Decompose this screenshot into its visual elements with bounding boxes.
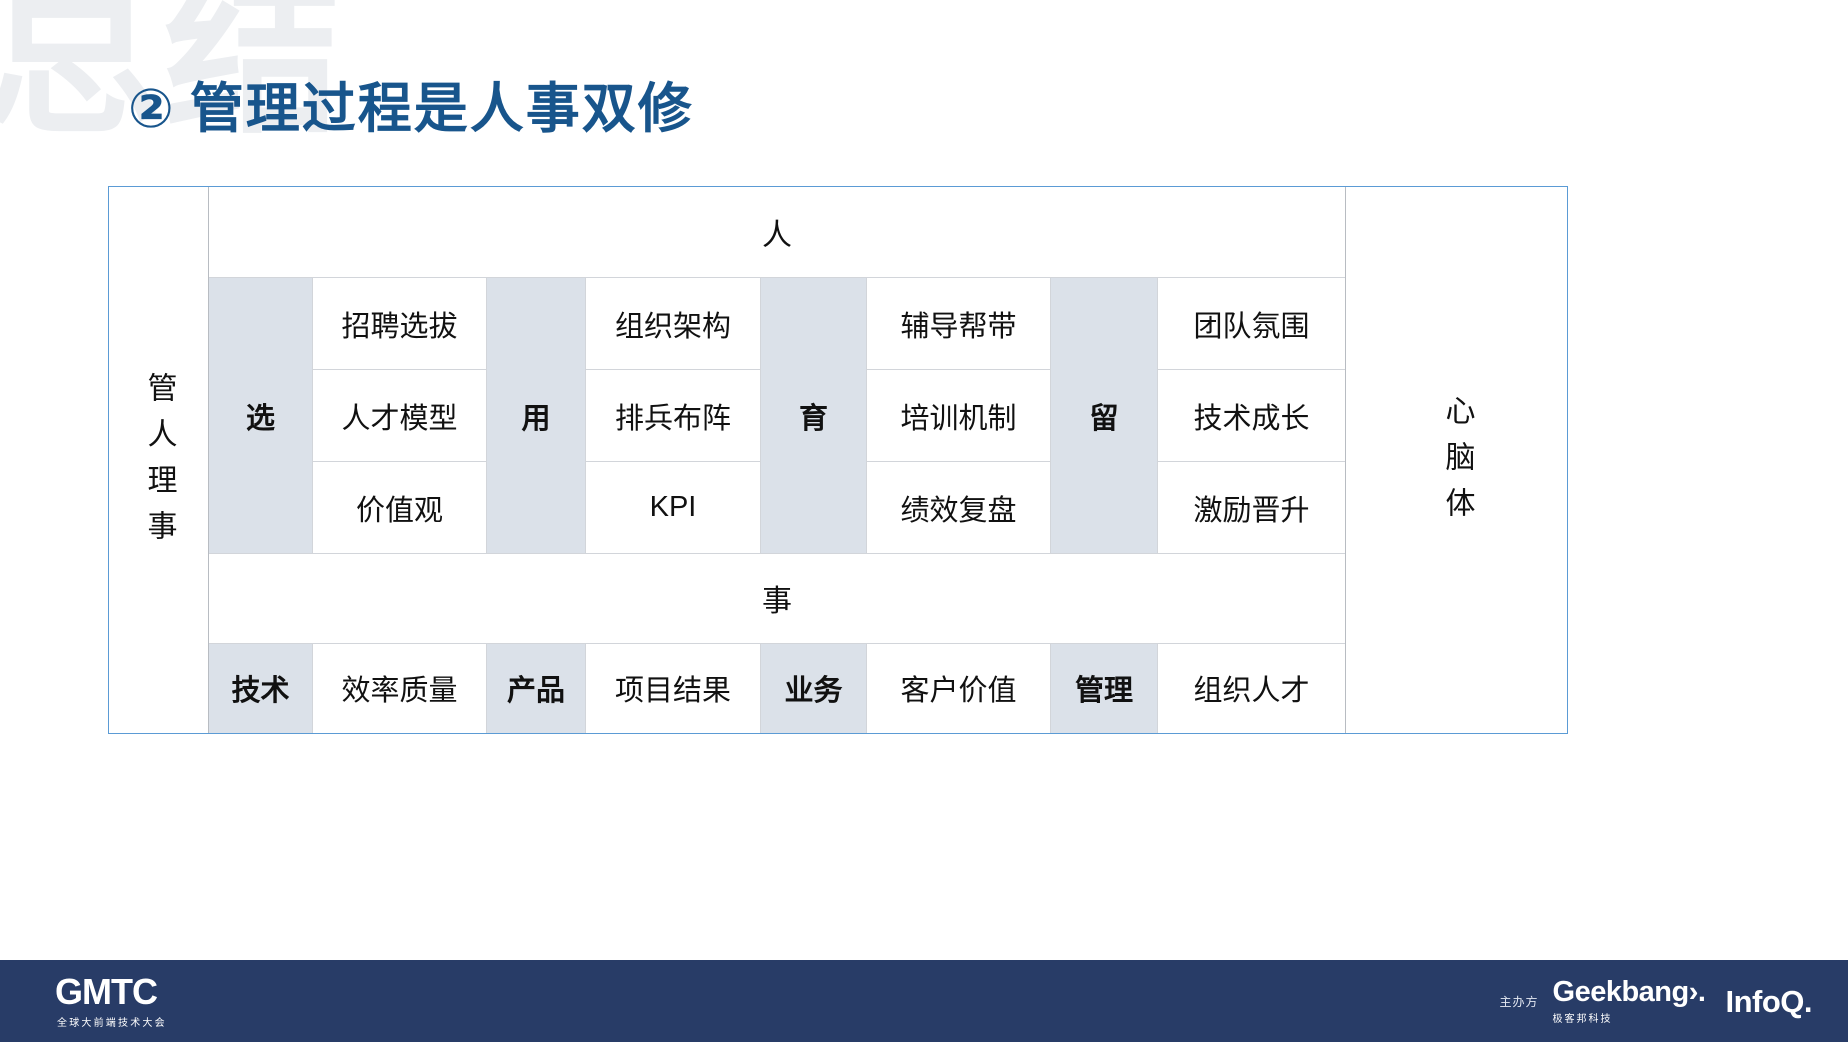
geekbang-logo: Geekbang›. (1553, 978, 1706, 1007)
people-key-yu: 育 (761, 278, 867, 554)
slide-footer: GMTC 全球大前端技术大会 主办方 Geekbang›. 极客邦科技 Info… (0, 960, 1848, 1042)
affairs-key-chanpin: 产品 (487, 644, 586, 733)
people-cell: KPI (586, 462, 761, 554)
people-cell: 价值观 (313, 462, 487, 554)
gmtc-logo: GMTC (55, 974, 157, 1010)
affairs-key-yewu: 业务 (761, 644, 867, 733)
people-key-xuan: 选 (209, 278, 313, 554)
people-cell: 培训机制 (867, 370, 1051, 462)
page-title: ②管理过程是人事双修 (128, 80, 694, 139)
affairs-cell: 效率质量 (313, 644, 487, 733)
people-key-liu: 留 (1051, 278, 1158, 554)
affairs-cell: 项目结果 (586, 644, 761, 733)
affairs-key-guanli: 管理 (1051, 644, 1158, 733)
matrix-right-label-cell: 心脑体 (1345, 187, 1567, 733)
people-grid: 选 用 育 留 招聘选拔 组织架构 辅导帮带 团队氛围 人才模型 排兵布阵 培训… (209, 277, 1345, 554)
gmtc-brand: GMTC 全球大前端技术大会 (55, 974, 167, 1029)
affairs-key-jishu: 技术 (209, 644, 313, 733)
matrix-left-label-cell: 管人理事 (109, 187, 209, 733)
slide-canvas: 总结 ②管理过程是人事双修 管人理事 人 选 用 育 留 招聘选拔 组织架构 辅… (0, 0, 1848, 1042)
people-cell: 团队氛围 (1158, 278, 1345, 370)
matrix-left-label: 管人理事 (144, 364, 174, 556)
people-cell: 辅导帮带 (867, 278, 1051, 370)
people-cell: 人才模型 (313, 370, 487, 462)
people-cell: 招聘选拔 (313, 278, 487, 370)
people-cell: 组织架构 (586, 278, 761, 370)
sponsor-brands: 主办方 Geekbang›. 极客邦科技 InfoQ. (1500, 978, 1813, 1025)
matrix-center-area: 人 选 用 育 留 招聘选拔 组织架构 辅导帮带 团队氛围 人才模型 排兵布阵 … (209, 187, 1345, 733)
affairs-cell: 客户价值 (867, 644, 1051, 733)
infoq-logo: InfoQ. (1725, 986, 1812, 1017)
management-matrix-table: 管人理事 人 选 用 育 留 招聘选拔 组织架构 辅导帮带 团队氛围 人才模型 … (108, 186, 1568, 734)
band-affairs: 事 (209, 554, 1345, 642)
people-cell: 技术成长 (1158, 370, 1345, 462)
matrix-right-label: 心脑体 (1442, 387, 1472, 533)
band-people: 人 (209, 187, 1345, 277)
affairs-cell: 组织人才 (1158, 644, 1345, 733)
geekbang-brand: Geekbang›. 极客邦科技 (1553, 978, 1706, 1025)
host-label: 主办方 (1500, 993, 1539, 1010)
title-text: 管理过程是人事双修 (190, 79, 694, 139)
gmtc-subtitle: 全球大前端技术大会 (57, 1014, 167, 1029)
affairs-grid: 技术 效率质量 产品 项目结果 业务 客户价值 管理 组织人才 (209, 643, 1345, 733)
people-key-yong: 用 (487, 278, 586, 554)
people-cell: 绩效复盘 (867, 462, 1051, 554)
people-cell: 排兵布阵 (586, 370, 761, 462)
title-number: ② (128, 79, 176, 139)
geekbang-subtitle: 极客邦科技 (1553, 1010, 1613, 1025)
people-cell: 激励晋升 (1158, 462, 1345, 554)
